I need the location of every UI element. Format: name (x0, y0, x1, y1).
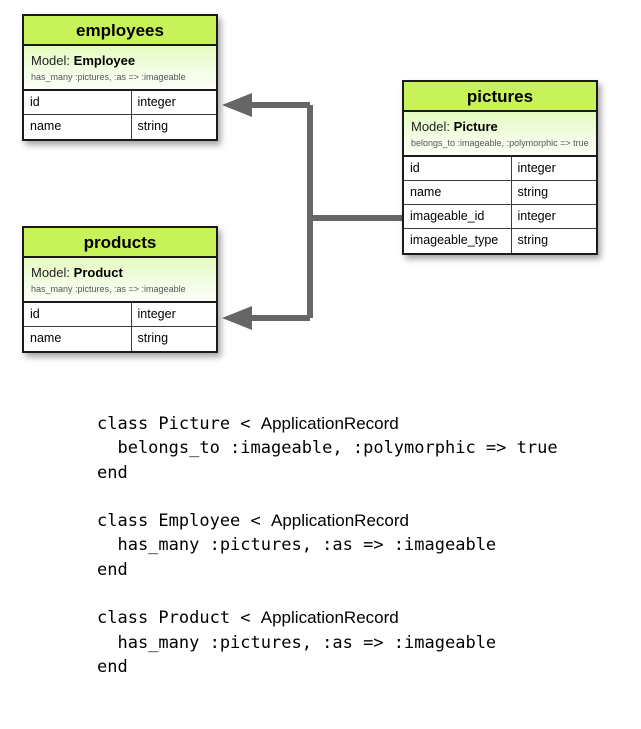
field-name: name (404, 181, 512, 204)
code-blank-line (97, 582, 617, 606)
model-line: Model: Product (31, 265, 209, 280)
field-name: name (24, 327, 132, 351)
entity-model-employees: Model: Employee has_many :pictures, :as … (24, 46, 216, 91)
field-type: integer (512, 157, 596, 180)
table-row: id integer (404, 157, 596, 181)
table-row: imageable_id integer (404, 205, 596, 229)
code-line: belongs_to :imageable, :polymorphic => t… (97, 436, 617, 460)
code-line: end (97, 461, 617, 485)
code-class-name: ApplicationRecord (271, 511, 409, 530)
field-type: string (132, 327, 216, 351)
entity-fields-pictures: id integer name string imageable_id inte… (404, 157, 596, 253)
code-line: has_many :pictures, :as => :imageable (97, 533, 617, 557)
code-blank-line (97, 485, 617, 509)
code-line: class Employee < ApplicationRecord (97, 509, 617, 533)
field-type: integer (132, 303, 216, 326)
entity-model-pictures: Model: Picture belongs_to :imageable, :p… (404, 112, 596, 157)
model-note: belongs_to :imageable, :polymorphic => t… (411, 137, 589, 149)
entity-fields-employees: id integer name string (24, 91, 216, 139)
code-text: belongs_to :imageable, :polymorphic => t… (97, 438, 558, 458)
field-name: id (24, 91, 132, 114)
field-type: integer (512, 205, 596, 228)
model-name: Picture (454, 119, 498, 134)
code-line: end (97, 655, 617, 679)
code-text: end (97, 657, 128, 677)
code-text: class Employee < (97, 511, 271, 531)
er-diagram: employees Model: Employee has_many :pict… (0, 0, 641, 390)
field-type: string (512, 229, 596, 253)
field-name: id (404, 157, 512, 180)
entity-employees[interactable]: employees Model: Employee has_many :pict… (22, 14, 218, 141)
table-row: imageable_type string (404, 229, 596, 253)
arrow-left-icon-employees (222, 93, 252, 117)
code-text: has_many :pictures, :as => :imageable (97, 535, 496, 555)
code-text: class Picture < (97, 414, 261, 434)
model-label: Model: (31, 265, 70, 280)
entity-title-products: products (24, 228, 216, 258)
field-name: name (24, 115, 132, 139)
entity-pictures[interactable]: pictures Model: Picture belongs_to :imag… (402, 80, 598, 255)
table-row: id integer (24, 303, 216, 327)
code-class-name: ApplicationRecord (261, 414, 399, 433)
code-text: has_many :pictures, :as => :imageable (97, 633, 496, 653)
entity-title-pictures: pictures (404, 82, 596, 112)
field-type: string (132, 115, 216, 139)
model-note: has_many :pictures, :as => :imageable (31, 283, 209, 295)
model-line: Model: Employee (31, 53, 209, 68)
field-type: integer (132, 91, 216, 114)
table-row: id integer (24, 91, 216, 115)
arrow-left-icon-products (222, 306, 252, 330)
field-type: string (512, 181, 596, 204)
code-text: class Product < (97, 608, 261, 628)
code-line: has_many :pictures, :as => :imageable (97, 631, 617, 655)
entity-products[interactable]: products Model: Product has_many :pictur… (22, 226, 218, 353)
code-text: end (97, 463, 128, 483)
model-line: Model: Picture (411, 119, 589, 134)
field-name: id (24, 303, 132, 326)
field-name: imageable_id (404, 205, 512, 228)
code-text: end (97, 560, 128, 580)
table-row: name string (24, 115, 216, 139)
code-class-name: ApplicationRecord (261, 608, 399, 627)
entity-title-employees: employees (24, 16, 216, 46)
table-row: name string (404, 181, 596, 205)
entity-model-products: Model: Product has_many :pictures, :as =… (24, 258, 216, 303)
model-note: has_many :pictures, :as => :imageable (31, 71, 209, 83)
model-name: Employee (74, 53, 135, 68)
model-label: Model: (31, 53, 70, 68)
entity-fields-products: id integer name string (24, 303, 216, 351)
field-name: imageable_type (404, 229, 512, 253)
table-row: name string (24, 327, 216, 351)
model-name: Product (74, 265, 123, 280)
code-line: class Picture < ApplicationRecord (97, 412, 617, 436)
model-label: Model: (411, 119, 450, 134)
code-listing: class Picture < ApplicationRecord belong… (97, 412, 617, 679)
code-line: end (97, 558, 617, 582)
code-line: class Product < ApplicationRecord (97, 606, 617, 630)
